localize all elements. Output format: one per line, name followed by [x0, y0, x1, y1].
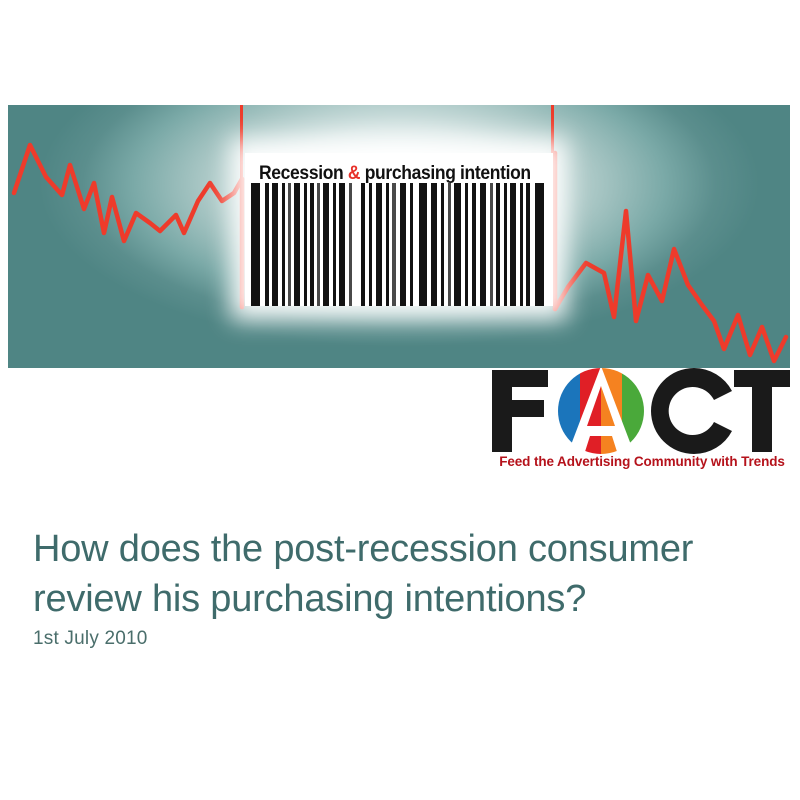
slide-date: 1st July 2010: [33, 628, 148, 650]
page-title: How does the post-recession consumer rev…: [33, 524, 763, 624]
letter-c: [651, 368, 732, 454]
title-slide: Recession & purchasing intention: [0, 0, 800, 800]
barcode-bars: [245, 183, 553, 306]
letter-t: [734, 370, 790, 452]
letter-f: [492, 370, 548, 452]
fact-logo: Feed the Advertising Community with Tren…: [488, 368, 792, 480]
hero-banner: Recession & purchasing intention: [8, 105, 790, 368]
left-trend-line: [14, 145, 242, 241]
fact-wordmark: [488, 368, 792, 454]
barcode-title-ampersand: &: [348, 161, 360, 183]
right-trend-line: [555, 211, 786, 361]
barcode-title-suffix: purchasing intention: [360, 161, 531, 183]
barcode-title: Recession & purchasing intention: [259, 159, 541, 186]
barcode-title-prefix: Recession: [259, 161, 348, 183]
letter-a-disc: [558, 368, 646, 454]
headline-line-2: review his purchasing intentions?: [33, 574, 763, 624]
headline-line-1: How does the post-recession consumer: [33, 524, 763, 574]
barcode-rule-left: [240, 105, 243, 258]
barcode-panel: Recession & purchasing intention: [245, 153, 553, 306]
fact-tagline: Feed the Advertising Community with Tren…: [492, 454, 792, 469]
